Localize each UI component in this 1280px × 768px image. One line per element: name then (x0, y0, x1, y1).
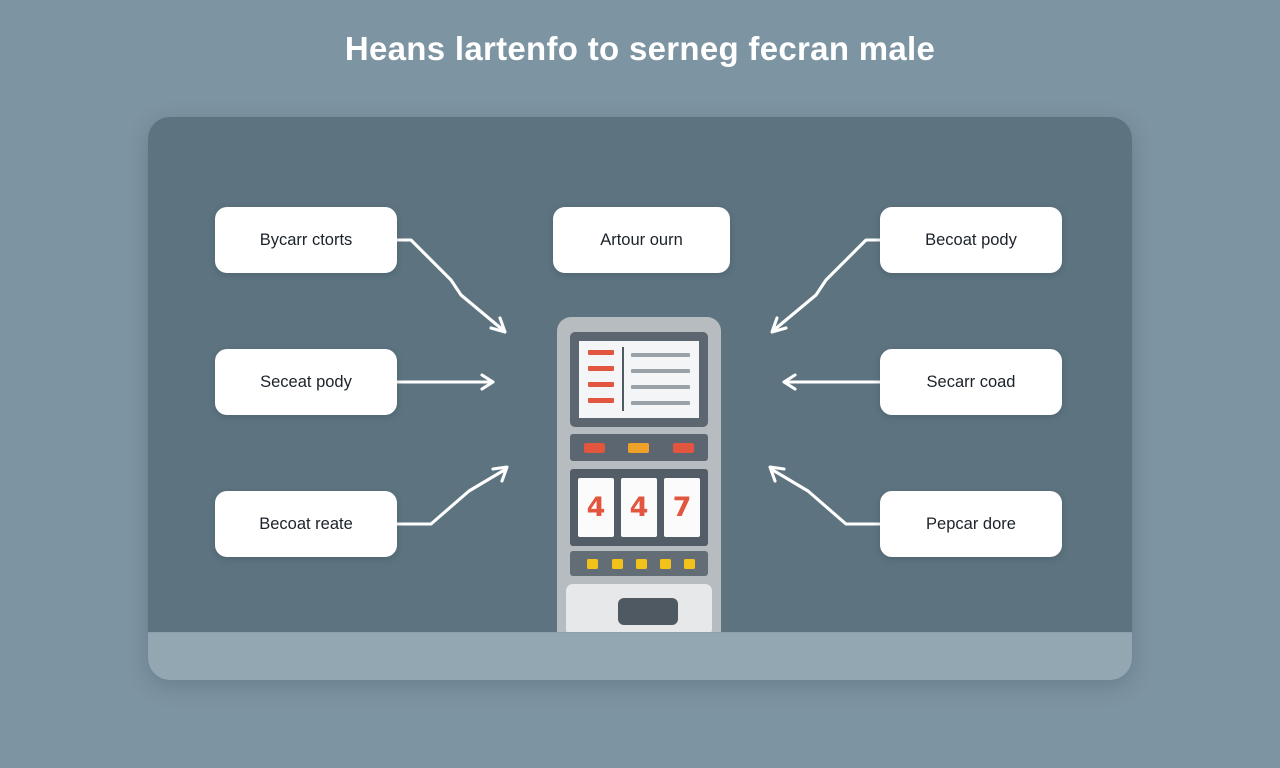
screen-gray-line-1 (631, 353, 690, 357)
screen-red-bar-1 (588, 350, 614, 355)
node-label: Secarr coad (927, 373, 1016, 392)
reel-3: 7 (664, 478, 700, 537)
slot-machine-illustration: 4 4 7 (557, 317, 721, 680)
machine-payout-tray (566, 584, 712, 636)
node-center-1[interactable]: Artour ourn (553, 207, 730, 273)
card-footer-strip (148, 632, 1132, 680)
machine-payout-slot (618, 598, 678, 625)
screen-gray-line-3 (631, 385, 690, 389)
screen-red-bar-3 (588, 382, 614, 387)
screen-red-bar-2 (588, 366, 614, 371)
node-right-1[interactable]: Becoat pody (880, 207, 1062, 273)
mini-light-1 (587, 559, 598, 569)
right-top-connector (772, 240, 880, 332)
screen-gray-line-2 (631, 369, 690, 373)
node-label: Bycarr ctorts (260, 231, 353, 250)
node-label: Becoat reate (259, 515, 353, 534)
reel-2: 4 (621, 478, 657, 537)
machine-screen (579, 341, 699, 418)
node-left-1[interactable]: Bycarr ctorts (215, 207, 397, 273)
right-middle-connector (784, 375, 880, 389)
screen-gray-line-4 (631, 401, 690, 405)
node-label: Becoat pody (925, 231, 1017, 250)
machine-reel-panel: 4 4 7 (570, 469, 708, 546)
diagram-card: Bycarr ctorts Seceat pody Becoat reate A… (148, 117, 1132, 680)
reel-1: 4 (578, 478, 614, 537)
lamp-2 (628, 443, 649, 453)
node-right-2[interactable]: Secarr coad (880, 349, 1062, 415)
left-bottom-connector (397, 467, 507, 524)
right-bottom-connector (770, 467, 880, 524)
machine-screen-bezel (570, 332, 708, 427)
lamp-1 (584, 443, 605, 453)
node-left-2[interactable]: Seceat pody (215, 349, 397, 415)
machine-mini-light-row (570, 551, 708, 576)
node-label: Pepcar dore (926, 515, 1016, 534)
machine-lamp-strip (570, 434, 708, 461)
mini-light-2 (612, 559, 623, 569)
left-top-connector (397, 240, 505, 332)
left-middle-connector (397, 375, 493, 389)
screen-red-bar-4 (588, 398, 614, 403)
page-title: Heans lartenfo to serneg fecran male (0, 30, 1280, 68)
screen-divider (622, 347, 624, 411)
node-label: Seceat pody (260, 373, 352, 392)
node-left-3[interactable]: Becoat reate (215, 491, 397, 557)
node-label: Artour ourn (600, 231, 683, 250)
node-right-3[interactable]: Pepcar dore (880, 491, 1062, 557)
lamp-3 (673, 443, 694, 453)
mini-light-5 (684, 559, 695, 569)
mini-light-3 (636, 559, 647, 569)
mini-light-4 (660, 559, 671, 569)
